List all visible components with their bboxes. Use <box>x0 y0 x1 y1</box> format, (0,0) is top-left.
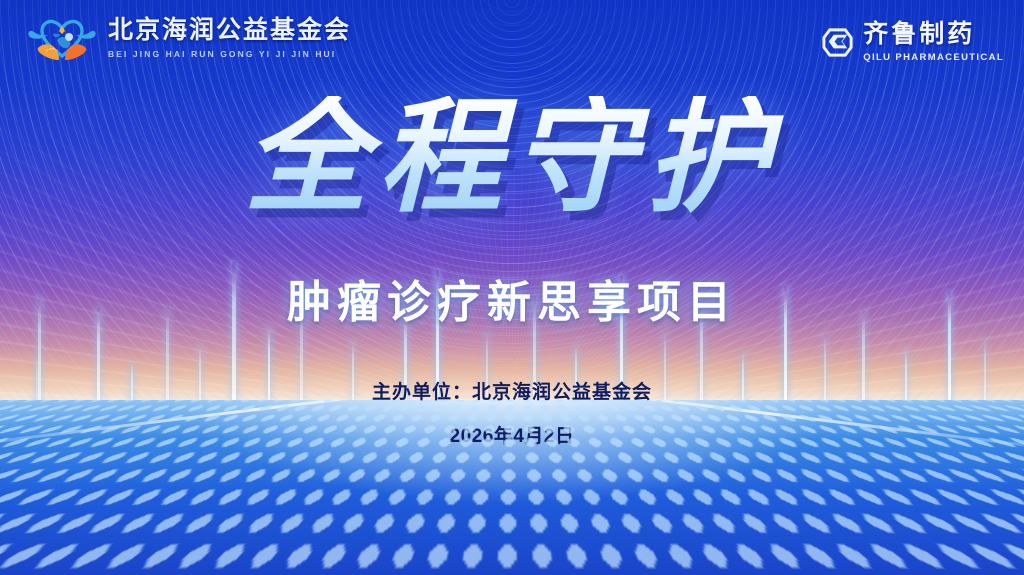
host-organizer: 主办单位：北京海润公益基金会 <box>0 377 1024 404</box>
heart-wings-hands-icon <box>26 10 98 66</box>
qilu-logo-text: 齐鲁制药 QILU PHARMACEUTICAL <box>863 22 1004 63</box>
qilu-name-cn: 齐鲁制药 <box>863 22 1004 47</box>
qilu-hexagon-icon <box>821 26 854 59</box>
event-date: 2026年4月2日 <box>0 421 1024 448</box>
foundation-name-cn: 北京海润公益基金会 <box>108 17 351 45</box>
qilu-name-en: QILU PHARMACEUTICAL <box>863 52 1004 63</box>
event-poster: 北京海润公益基金会 BEI JING HAI RUN GONG YI JI JI… <box>0 0 1024 575</box>
main-title: 全程守护 <box>0 96 1024 220</box>
sub-title: 肿瘤诊疗新思享项目 <box>0 266 1024 330</box>
foundation-name-pinyin: BEI JING HAI RUN GONG YI JI JIN HUI <box>108 49 351 59</box>
qilu-logo[interactable]: 齐鲁制药 QILU PHARMACEUTICAL <box>821 22 1004 63</box>
foundation-logo[interactable]: 北京海润公益基金会 BEI JING HAI RUN GONG YI JI JI… <box>26 10 351 66</box>
foundation-logo-text: 北京海润公益基金会 BEI JING HAI RUN GONG YI JI JI… <box>108 17 351 59</box>
